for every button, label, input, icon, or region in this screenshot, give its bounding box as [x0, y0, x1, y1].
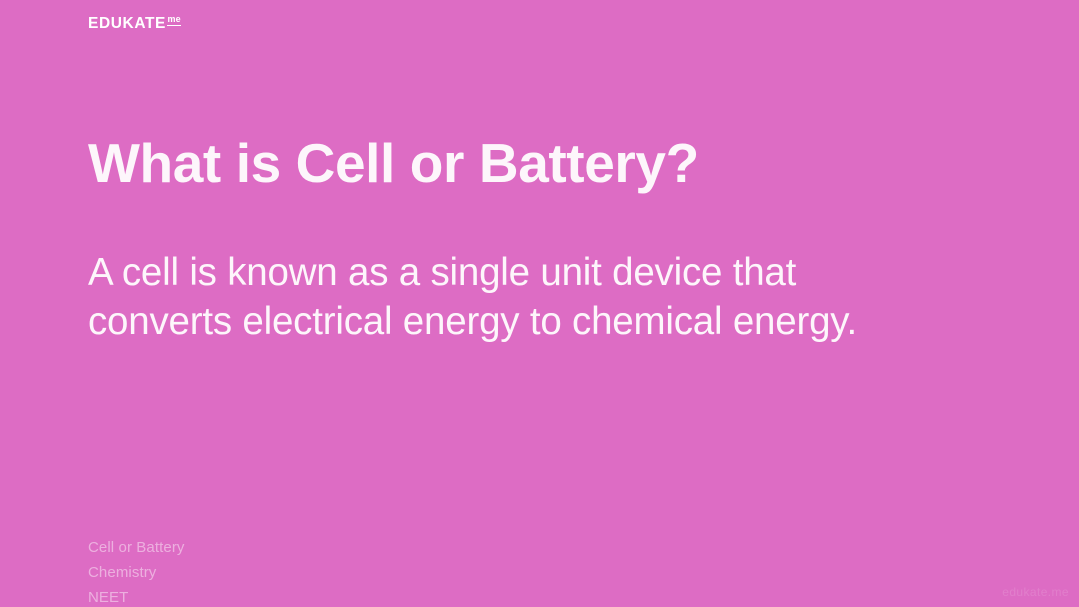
presentation-slide: EDUKATE me What is Cell or Battery? A ce…	[0, 0, 1079, 607]
slide-title: What is Cell or Battery?	[88, 134, 699, 193]
brand-logo-superscript: me	[167, 15, 180, 26]
slide-body-text: A cell is known as a single unit device …	[88, 248, 988, 346]
footer-topic: Cell or Battery	[88, 535, 185, 560]
footer-subject: Chemistry	[88, 560, 185, 585]
body-text-line-2: converts electrical energy to chemical e…	[88, 297, 988, 346]
footer-exam: NEET	[88, 585, 185, 607]
footer-metadata: Cell or Battery Chemistry NEET	[88, 535, 185, 607]
brand-logo[interactable]: EDUKATE me	[88, 16, 181, 32]
body-text-line-1: A cell is known as a single unit device …	[88, 248, 988, 297]
watermark: edukate.me	[1002, 585, 1069, 599]
brand-logo-wordmark: EDUKATE	[88, 16, 166, 32]
